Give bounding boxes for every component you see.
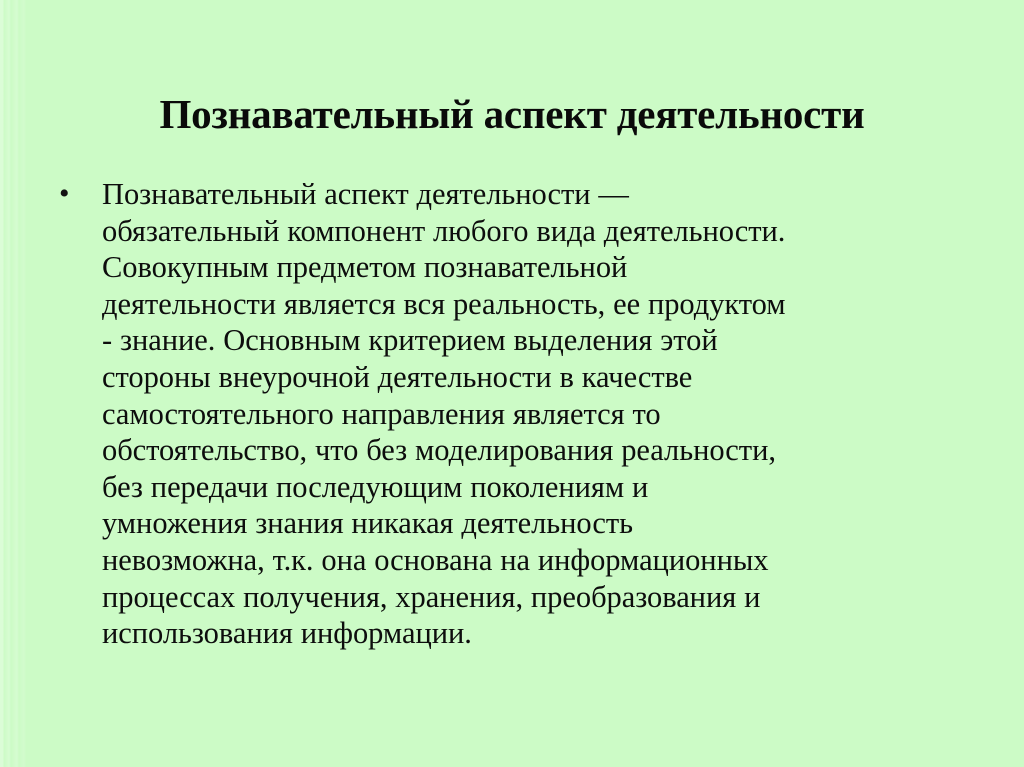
bullet-item-text: Познавательный аспект деятельности —обяз… [102,176,992,652]
bullet-text-line: самостоятельного направления является то [102,396,992,433]
bullet-text-line: обязательный компонент любого вида деяте… [102,213,992,250]
bullet-text-line: использования информации. [102,615,992,652]
list-item: • Познавательный аспект деятельности —об… [52,176,992,652]
bullet-point-icon: • [59,176,75,213]
bullet-text-line: стороны внеурочной деятельности в качест… [102,359,992,396]
bullet-text-line: без передачи последующим поколениям и [102,469,992,506]
slide-body: • Познавательный аспект деятельности —об… [52,176,992,652]
bullet-text-line: деятельности является вся реальность, ее… [102,286,992,323]
slide-title: Познавательный аспект деятельности [0,89,1024,139]
bullet-text-line: умножения знания никакая деятельность [102,505,992,542]
bullet-text-line: обстоятельство, что без моделирования ре… [102,432,992,469]
bullet-text-line: Познавательный аспект деятельности — [102,176,992,213]
bullet-text-line: - знание. Основным критерием выделения э… [102,322,992,359]
bullet-text-line: процессах получения, хранения, преобразо… [102,579,992,616]
bullet-text-line: невозможна, т.к. она основана на информа… [102,542,992,579]
bullet-text-line: Совокупным предметом познавательной [102,249,992,286]
presentation-slide: Познавательный аспект деятельности • Поз… [0,0,1024,767]
